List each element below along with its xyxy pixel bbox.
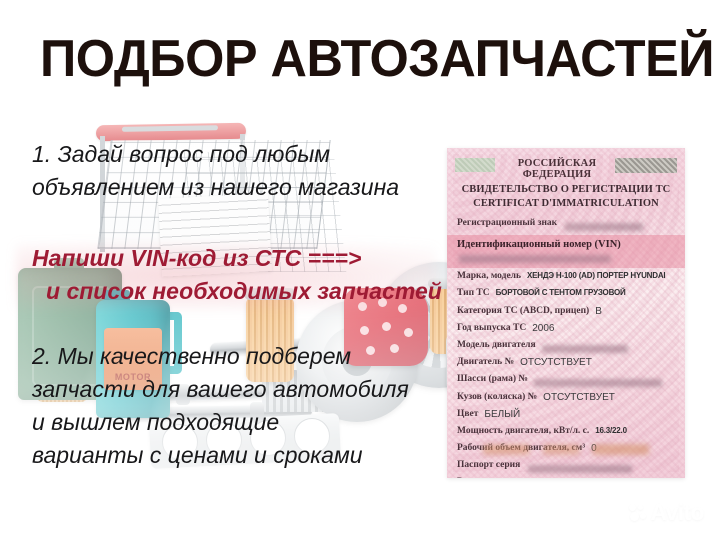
document-field-row: Кузов (коляска) №ОТСУТСТВУЕТ	[457, 392, 679, 409]
redacted-value	[528, 465, 632, 473]
document-field-label: Разрешенная max масса, кг	[457, 477, 575, 478]
security-block-right	[615, 158, 677, 173]
document-field-value: БЕЛЫЙ	[484, 409, 520, 420]
document-field-row: Категория ТС (ABCD, прицеп)В	[457, 306, 679, 323]
vehicle-registration-certificate: РОССИЙСКАЯ ФЕДЕРАЦИЯ СВИДЕТЕЛЬСТВО О РЕГ…	[447, 148, 685, 478]
document-field-row: Модель двигателя	[457, 340, 679, 357]
avito-wordmark: Avito	[650, 501, 704, 524]
document-country: РОССИЙСКАЯ ФЕДЕРАЦИЯ	[497, 158, 617, 180]
document-field-value: ОТСУТСТВУЕТ	[543, 392, 615, 403]
document-field-row: Тип ТСБОРТОВОЙ С ТЕНТОМ ГРУЗОВОЙ	[457, 288, 679, 305]
vin-value-redacted	[459, 255, 611, 263]
document-field-row: Марка, модельХЕНДЭ Н-100 (АD) ПОРТЕР HYU…	[457, 271, 679, 288]
page-title: ПОДБОР АВТОЗАПЧАСТЕЙ	[40, 30, 680, 88]
document-footer-redacted	[483, 444, 649, 455]
document-field-value: ХЕНДЭ Н-100 (АD) ПОРТЕР HYUNDAI	[527, 271, 665, 280]
document-field-row: Паспорт серия	[457, 460, 679, 477]
redacted-value	[534, 379, 662, 387]
avito-dots-icon	[629, 504, 646, 521]
document-field-value: 2006	[532, 323, 554, 334]
promo-banner: MOTOR	[0, 0, 720, 540]
caliper-hole	[404, 328, 413, 337]
document-field-value: В	[595, 306, 602, 317]
vin-callout-line1: Напиши VIN-код из СТС ===>	[32, 242, 361, 275]
step2-line2: запчасти для вашего автомобиля	[32, 373, 409, 406]
document-field-label: Шасси (рама) №	[457, 374, 528, 384]
redacted-value	[565, 223, 643, 231]
document-field-row: Регистрационный знак	[457, 218, 679, 235]
document-field-label: Двигатель №	[457, 357, 514, 367]
caliper-hole	[366, 346, 375, 355]
document-field-label: Марка, модель	[457, 271, 521, 281]
document-field-label: Тип ТС	[457, 288, 490, 298]
step2-line1: 2. Мы качественно подберем	[32, 340, 351, 373]
step2-line3: и вышлем подходящие	[32, 406, 279, 439]
bottom-white-band	[0, 470, 720, 540]
document-title-fr: CERTIFICAT D'IMMATRICULATION	[455, 198, 677, 209]
document-field-value: 2600	[581, 477, 603, 478]
document-field-label: Мощность двигателя, кВт/л. с.	[457, 426, 589, 436]
document-field-row: Год выпуска ТС2006	[457, 323, 679, 340]
document-field-label: Год выпуска ТС	[457, 323, 526, 333]
vin-callout-line2: и список необходимых запчастей	[46, 275, 442, 308]
document-field-row: Разрешенная max масса, кг2600	[457, 477, 679, 478]
caliper-hole	[382, 322, 391, 331]
document-field-row: Шасси (рама) №	[457, 374, 679, 391]
document-field-value: ОТСУТСТВУЕТ	[520, 357, 592, 368]
step2-line4: варианты с ценами и сроками	[32, 439, 363, 472]
step1-line2: объявлением из нашего магазина	[32, 171, 399, 204]
security-block-left	[455, 158, 495, 172]
document-field-label: Паспорт серия	[457, 460, 520, 470]
document-field-row: ЦветБЕЛЫЙ	[457, 409, 679, 426]
document-field-value: 16.3/22.0	[595, 426, 627, 435]
caliper-hole	[390, 344, 399, 353]
document-field-row: Мощность двигателя, кВт/л. с.16.3/22.0	[457, 426, 679, 443]
redacted-value	[542, 345, 628, 353]
document-field-label: Кузов (коляска) №	[457, 392, 537, 402]
document-field-label: Регистрационный знак	[457, 218, 557, 228]
document-field-label: Модель двигателя	[457, 340, 536, 350]
document-field-label: Цвет	[457, 409, 478, 419]
avito-watermark: Avito	[629, 501, 704, 524]
document-field-value: БОРТОВОЙ С ТЕНТОМ ГРУЗОВОЙ	[496, 288, 626, 297]
document-title-ru: СВИДЕТЕЛЬСТВО О РЕГИСТРАЦИИ ТС	[455, 184, 677, 195]
step1-line1: 1. Задай вопрос под любым	[32, 138, 330, 171]
document-field-row: Двигатель №ОТСУТСТВУЕТ	[457, 357, 679, 374]
vin-label: Идентификационный номер (VIN)	[457, 239, 621, 250]
document-field-label: Категория ТС (ABCD, прицеп)	[457, 306, 589, 316]
caliper-hole	[360, 326, 369, 335]
